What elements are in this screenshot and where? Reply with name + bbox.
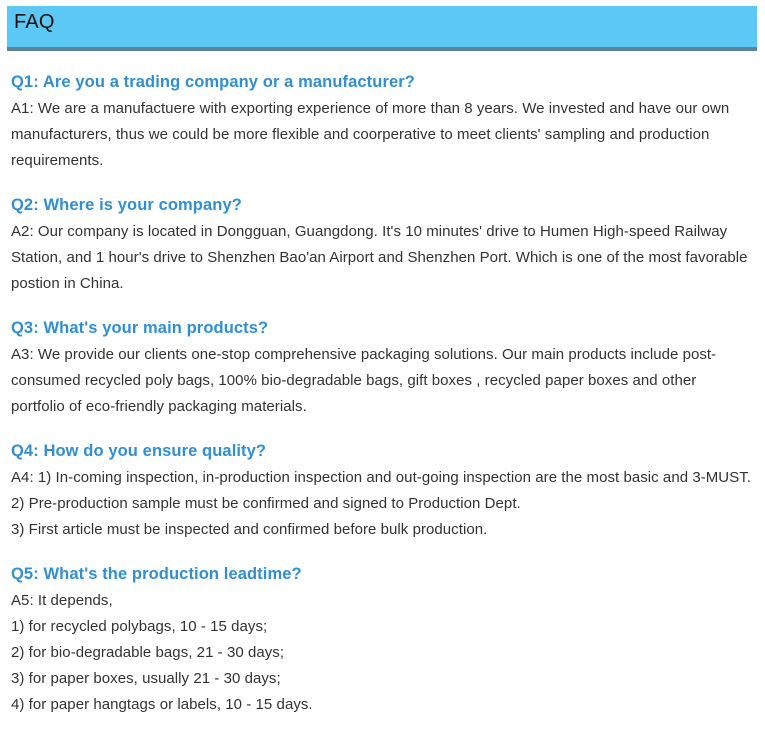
faq-answer-line: 4) for paper hangtags or labels, 10 - 15… [11,692,753,718]
faq-answer-line: A1: We are a manufactuere with exporting… [11,96,753,174]
faq-item: Q2: Where is your company?A2: Our compan… [11,194,753,297]
faq-page: FAQ Q1: Are you a trading company or a m… [0,0,765,748]
faq-answer-line: A4: 1) In-coming inspection, in-producti… [11,465,753,491]
faq-question: Q2: Where is your company? [11,194,753,216]
faq-answer-line: 1) for recycled polybags, 10 - 15 days; [11,614,753,640]
faq-answer-line: A5: It depends, [11,588,753,614]
faq-item: Q4: How do you ensure quality?A4: 1) In-… [11,440,753,543]
faq-item: Q1: Are you a trading company or a manuf… [11,71,753,174]
faq-answer: A5: It depends,1) for recycled polybags,… [11,588,753,718]
faq-question: Q4: How do you ensure quality? [11,440,753,462]
faq-item: Q5: What's the production leadtime?A5: I… [11,563,753,718]
faq-answer-line: 3) for paper boxes, usually 21 - 30 days… [11,666,753,692]
faq-question: Q3: What's your main products? [11,317,753,339]
faq-answer-line: 3) First article must be inspected and c… [11,517,753,543]
faq-item: Q3: What's your main products?A3: We pro… [11,317,753,420]
faq-answer: A1: We are a manufactuere with exporting… [11,96,753,174]
faq-answer: A2: Our company is located in Dongguan, … [11,219,753,297]
faq-answer-line: 2) for bio-degradable bags, 21 - 30 days… [11,640,753,666]
faq-answer-line: A3: We provide our clients one-stop comp… [11,342,753,420]
faq-question: Q1: Are you a trading company or a manuf… [11,71,753,93]
faq-header-title: FAQ [14,12,55,32]
faq-header-banner: FAQ [7,6,757,51]
faq-list: Q1: Are you a trading company or a manuf… [11,71,753,718]
faq-answer-line: A2: Our company is located in Dongguan, … [11,219,753,297]
faq-answer-line: 2) Pre-production sample must be confirm… [11,491,753,517]
faq-answer: A4: 1) In-coming inspection, in-producti… [11,465,753,543]
faq-answer: A3: We provide our clients one-stop comp… [11,342,753,420]
faq-question: Q5: What's the production leadtime? [11,563,753,585]
